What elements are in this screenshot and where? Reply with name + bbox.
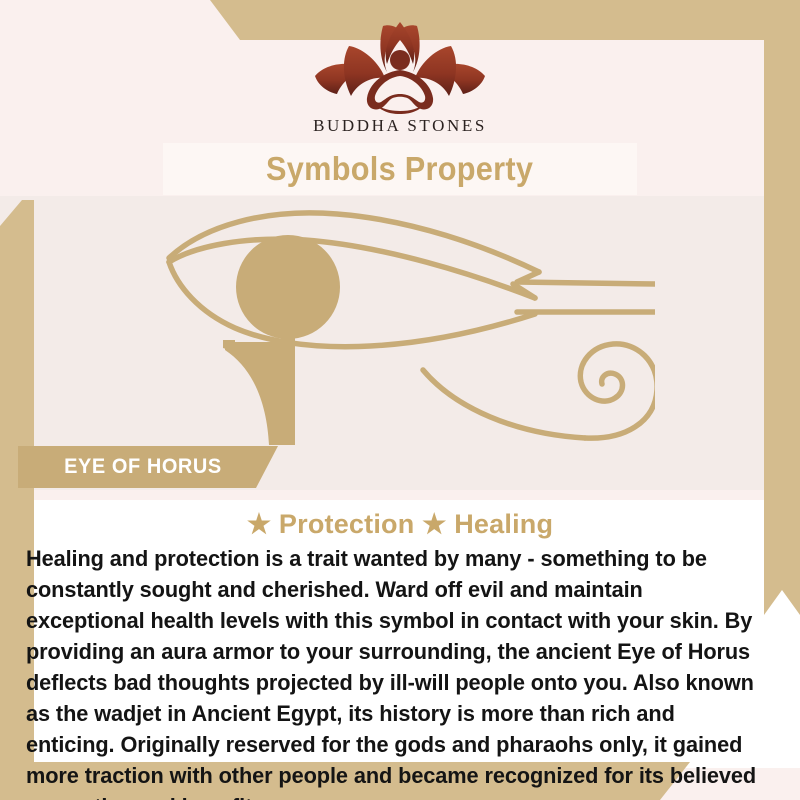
symbol-name-tag: EYE OF HORUS	[18, 446, 278, 488]
brand-name: BUDDHA STONES	[0, 116, 800, 136]
lotus-meditating-figure-icon	[307, 18, 493, 114]
symbol-property-poster: BUDDHA STONES Symbols Property	[0, 0, 800, 800]
page-title: Symbols Property	[266, 150, 533, 188]
brand-logo: BUDDHA STONES	[0, 18, 800, 136]
eye-of-horus-icon	[155, 210, 655, 445]
symbol-properties-line: ★ Protection ★ Healing	[0, 509, 800, 540]
symbol-description-text: Healing and protection is a trait wanted…	[26, 543, 763, 800]
symbol-name-label: EYE OF HORUS	[64, 455, 222, 479]
title-band: Symbols Property	[163, 143, 637, 195]
